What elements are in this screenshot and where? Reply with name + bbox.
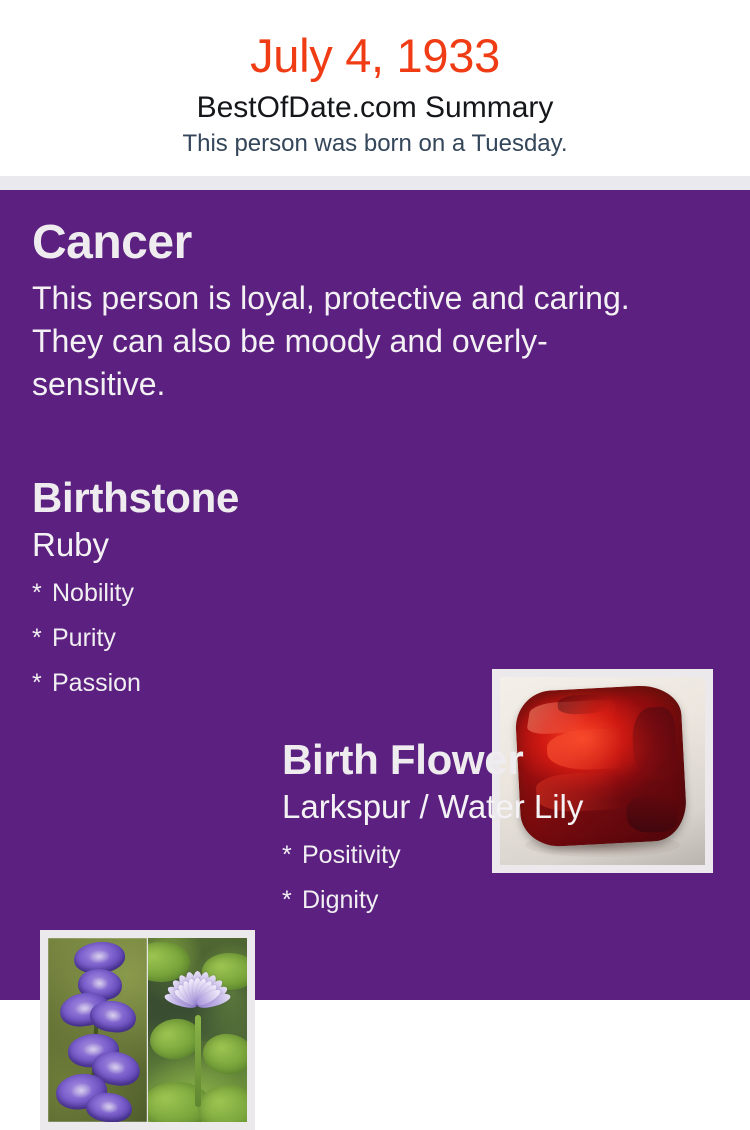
larkspur-flower-image	[48, 938, 147, 1122]
list-item: *Dignity	[282, 878, 732, 923]
zodiac-description: This person is loyal, protective and car…	[32, 271, 642, 406]
birthflower-name: Larkspur / Water Lily	[282, 785, 732, 827]
water-lily-flower-image	[147, 938, 247, 1122]
summary-card: July 4, 1933 BestOfDate.com Summary This…	[0, 0, 750, 1000]
asterisk-icon: *	[282, 878, 302, 923]
list-item: *Nobility	[32, 571, 462, 616]
birthstone-section: Birthstone Ruby *Nobility *Purity *Passi…	[32, 473, 462, 706]
header-divider	[0, 176, 750, 190]
lily-stem	[195, 1015, 201, 1107]
birthflower-title: Birth Flower	[282, 735, 732, 785]
birthflower-section: Birth Flower Larkspur / Water Lily *Posi…	[282, 735, 732, 923]
birthstone-trait-label: Passion	[52, 669, 141, 697]
birthstone-trait-list: *Nobility *Purity *Passion	[32, 565, 462, 706]
birthflower-trait-label: Positivity	[302, 841, 401, 869]
header: July 4, 1933 BestOfDate.com Summary This…	[0, 0, 750, 176]
content-panel: Cancer This person is loyal, protective …	[0, 190, 750, 1000]
zodiac-sign-title: Cancer	[32, 215, 672, 271]
birthstone-trait-label: Nobility	[52, 579, 134, 607]
birthflower-trait-list: *Positivity *Dignity	[282, 827, 732, 923]
list-item: *Positivity	[282, 833, 732, 878]
site-summary-label: BestOfDate.com Summary	[0, 84, 750, 126]
birthflower-photo-frame	[40, 930, 255, 1130]
birthstone-title: Birthstone	[32, 473, 462, 523]
page-title-date: July 4, 1933	[0, 0, 750, 84]
birthflower-photo	[48, 938, 247, 1122]
birthflower-trait-label: Dignity	[302, 886, 378, 914]
asterisk-icon: *	[32, 661, 52, 706]
list-item: *Passion	[32, 661, 462, 706]
list-item: *Purity	[32, 616, 462, 661]
zodiac-section: Cancer This person is loyal, protective …	[32, 215, 672, 406]
asterisk-icon: *	[32, 571, 52, 616]
weekday-statement: This person was born on a Tuesday.	[0, 126, 750, 159]
asterisk-icon: *	[282, 833, 302, 878]
asterisk-icon: *	[32, 616, 52, 661]
birthstone-trait-label: Purity	[52, 624, 116, 652]
birthstone-name: Ruby	[32, 523, 462, 565]
